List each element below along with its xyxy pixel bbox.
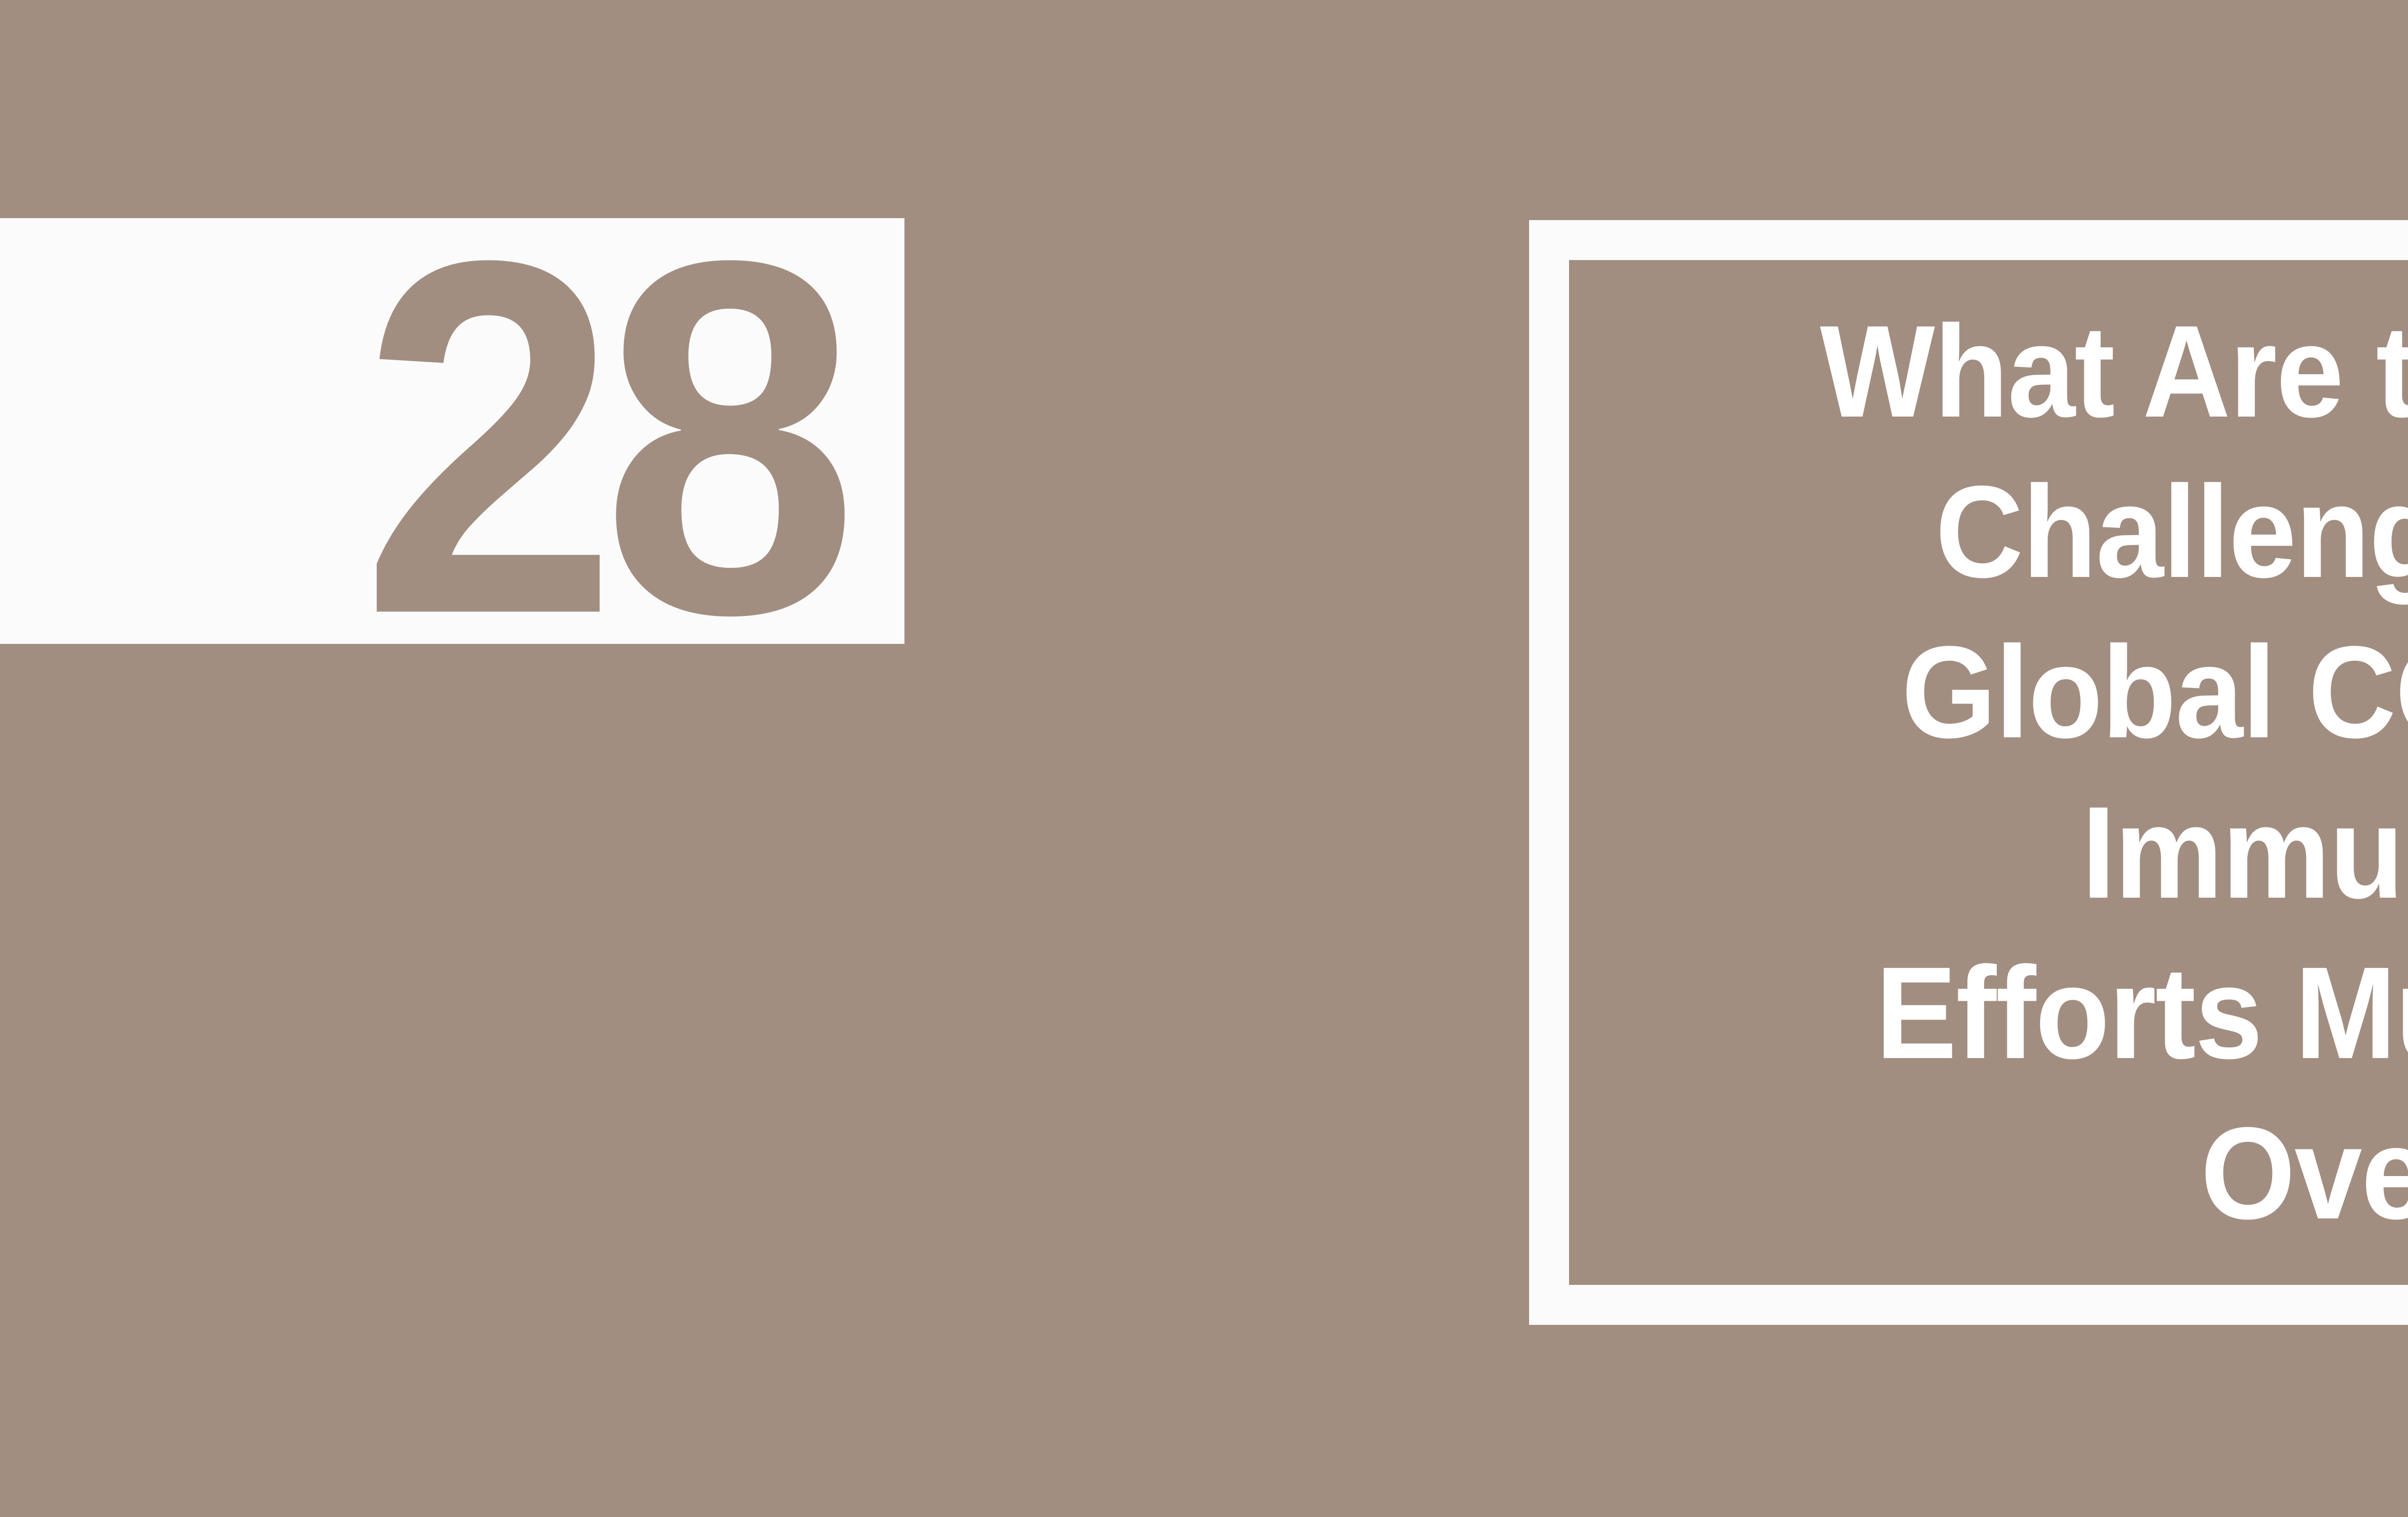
slide-number-badge: 28 [0,218,904,644]
title-line-3: Global COVID-19 [1820,612,2408,772]
title-line-4: Immunisation [1820,772,2408,933]
page-title: What Are the Main Challenges That Global… [1820,291,2408,1254]
slide-number-value: 28 [361,257,842,619]
title-line-2: Challenges That [1820,452,2408,612]
title-line-5: Efforts Must Now [1820,933,2408,1093]
title-card-frame: What Are the Main Challenges That Global… [1529,220,2408,1325]
title-line-6: Overcome? [1820,1093,2408,1254]
title-line-1: What Are the Main [1820,291,2408,452]
slide-canvas: 28 What Are the Main Challenges That Glo… [0,0,2408,1517]
title-card-inner: What Are the Main Challenges That Global… [1569,260,2408,1285]
